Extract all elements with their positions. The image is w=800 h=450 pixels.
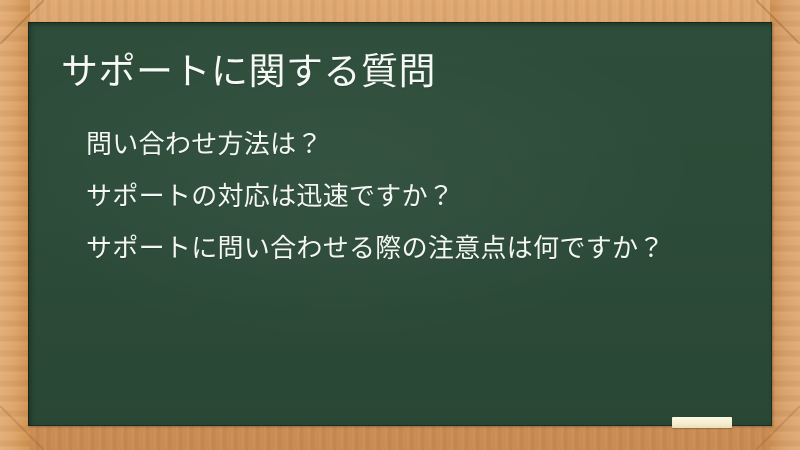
chalkboard-slide: サポートに関する質問 問い合わせ方法は？ サポートの対応は迅速ですか？ サポート…: [0, 0, 800, 450]
chalkboard-content: サポートに関する質問 問い合わせ方法は？ サポートの対応は迅速ですか？ サポート…: [28, 22, 772, 426]
question-item: 問い合わせ方法は？: [86, 119, 665, 171]
board-title: サポートに関する質問: [61, 48, 436, 95]
question-list: 問い合わせ方法は？ サポートの対応は迅速ですか？ サポートに問い合わせる際の注意…: [86, 119, 665, 275]
wooden-frame-right-stile: [770, 0, 800, 450]
wooden-frame-left-stile: [0, 0, 30, 450]
question-item: サポートの対応は迅速ですか？: [86, 171, 665, 223]
chalkboard-surface: サポートに関する質問 問い合わせ方法は？ サポートの対応は迅速ですか？ サポート…: [28, 22, 772, 426]
chalk-stick: [672, 417, 732, 428]
question-item: サポートに問い合わせる際の注意点は何ですか？: [86, 223, 665, 275]
